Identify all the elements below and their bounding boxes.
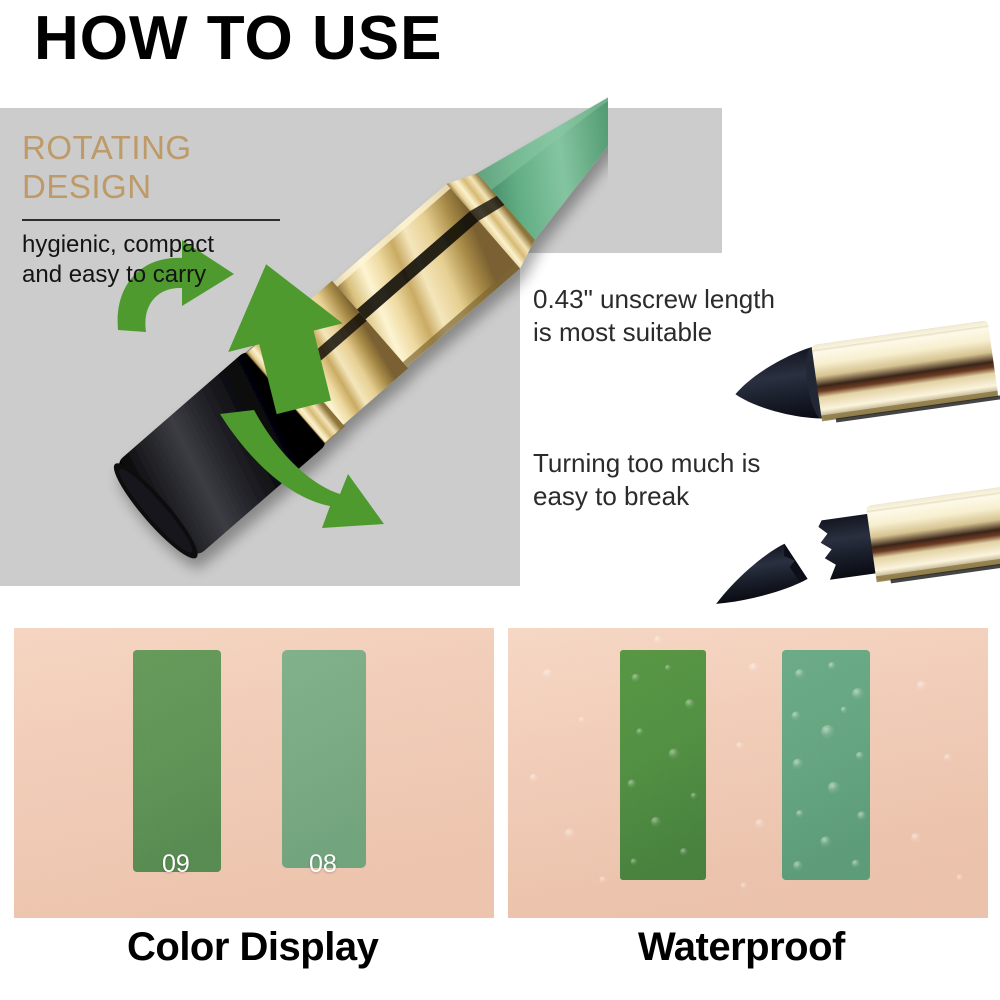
color-display-swatch-photo: 09 08 bbox=[14, 628, 494, 918]
skin-background-right bbox=[508, 628, 988, 918]
tip2-line-1: Turning too much is bbox=[533, 447, 760, 480]
intact-pencil-photo bbox=[720, 310, 1000, 440]
rotating-design-subtext: hygienic, compact and easy to carry bbox=[22, 230, 214, 290]
swatch-label-09: 09 bbox=[162, 850, 190, 879]
swatch-label-08: 08 bbox=[309, 850, 337, 879]
skin-background-left bbox=[14, 628, 494, 918]
color-display-caption: Color Display bbox=[127, 925, 378, 970]
waterproof-caption: Waterproof bbox=[638, 925, 845, 970]
infographic-page: HOW TO USE ROTATING DESIGN hygienic, com… bbox=[0, 0, 1000, 1000]
subtext-line-2: and easy to carry bbox=[22, 260, 214, 290]
broken-pencil-photo bbox=[700, 480, 1000, 620]
waterproof-swatch-photo bbox=[508, 628, 988, 918]
subtext-line-1: hygienic, compact bbox=[22, 230, 214, 260]
page-title: HOW TO USE bbox=[34, 8, 442, 70]
heading-line-2: DESIGN bbox=[22, 167, 192, 206]
rotating-design-heading: ROTATING DESIGN bbox=[22, 128, 192, 206]
heading-divider bbox=[22, 219, 280, 221]
heading-line-1: ROTATING bbox=[22, 128, 192, 167]
